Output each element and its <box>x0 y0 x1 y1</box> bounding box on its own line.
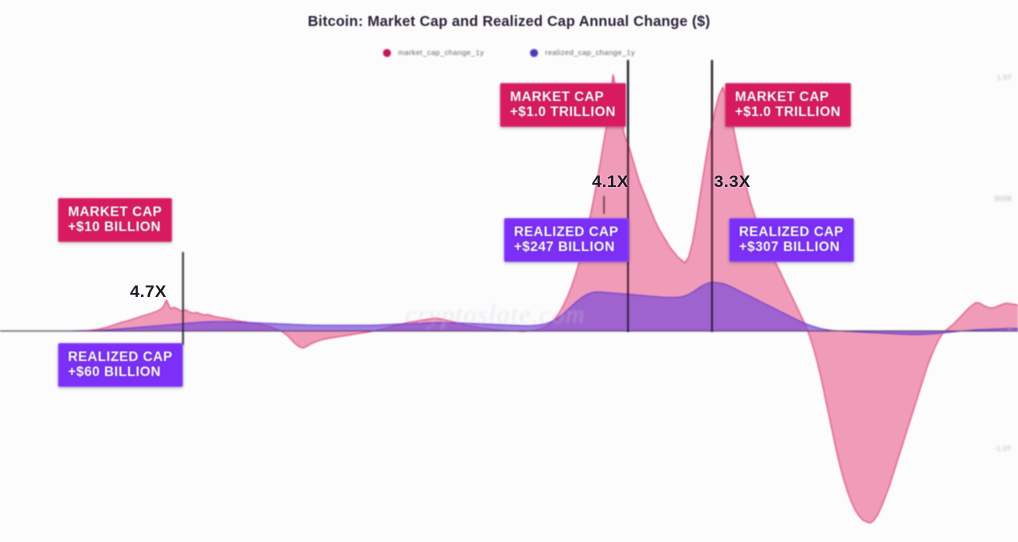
annotation-title: REALIZED CAP <box>514 224 619 239</box>
annotation-title: REALIZED CAP <box>739 224 844 239</box>
y-axis-tick-2: 0 <box>1008 326 1012 333</box>
multiplier-label-2017: 4.1X <box>592 172 629 192</box>
multiplier-label-2021: 3.3X <box>714 172 751 192</box>
chart-canvas: Bitcoin: Market Cap and Realized Cap Ann… <box>0 0 1018 542</box>
annotation-title: REALIZED CAP <box>68 349 173 364</box>
y-axis-tick-3: -1.0T <box>994 446 1012 453</box>
annotation-title: MARKET CAP <box>68 204 162 219</box>
annotation-market-cap-2017: MARKET CAP +$1.0 TRILLION <box>500 83 626 127</box>
annotation-realized-cap-2017: REALIZED CAP +$247 BILLION <box>504 218 629 262</box>
annotation-value: +$1.0 TRILLION <box>735 104 841 119</box>
annotation-realized-cap-2021: REALIZED CAP +$307 BILLION <box>729 218 854 262</box>
y-axis-tick-0: 1.5T <box>997 75 1012 82</box>
annotation-value: +$1.0 TRILLION <box>510 104 616 119</box>
plot-area <box>0 0 1018 542</box>
annotation-value: +$307 BILLION <box>739 239 844 254</box>
annotation-market-cap-2013: MARKET CAP +$10 BILLION <box>58 198 172 242</box>
annotation-value: +$247 BILLION <box>514 239 619 254</box>
multiplier-label-2013: 4.7X <box>130 282 167 302</box>
annotation-market-cap-2021: MARKET CAP +$1.0 TRILLION <box>725 83 851 127</box>
annotation-title: MARKET CAP <box>735 89 841 104</box>
annotation-value: +$10 BILLION <box>68 219 162 234</box>
annotation-realized-cap-2013: REALIZED CAP +$60 BILLION <box>58 343 183 387</box>
annotation-title: MARKET CAP <box>510 89 616 104</box>
annotation-value: +$60 BILLION <box>68 364 173 379</box>
y-axis-tick-1: 500B <box>994 196 1012 203</box>
